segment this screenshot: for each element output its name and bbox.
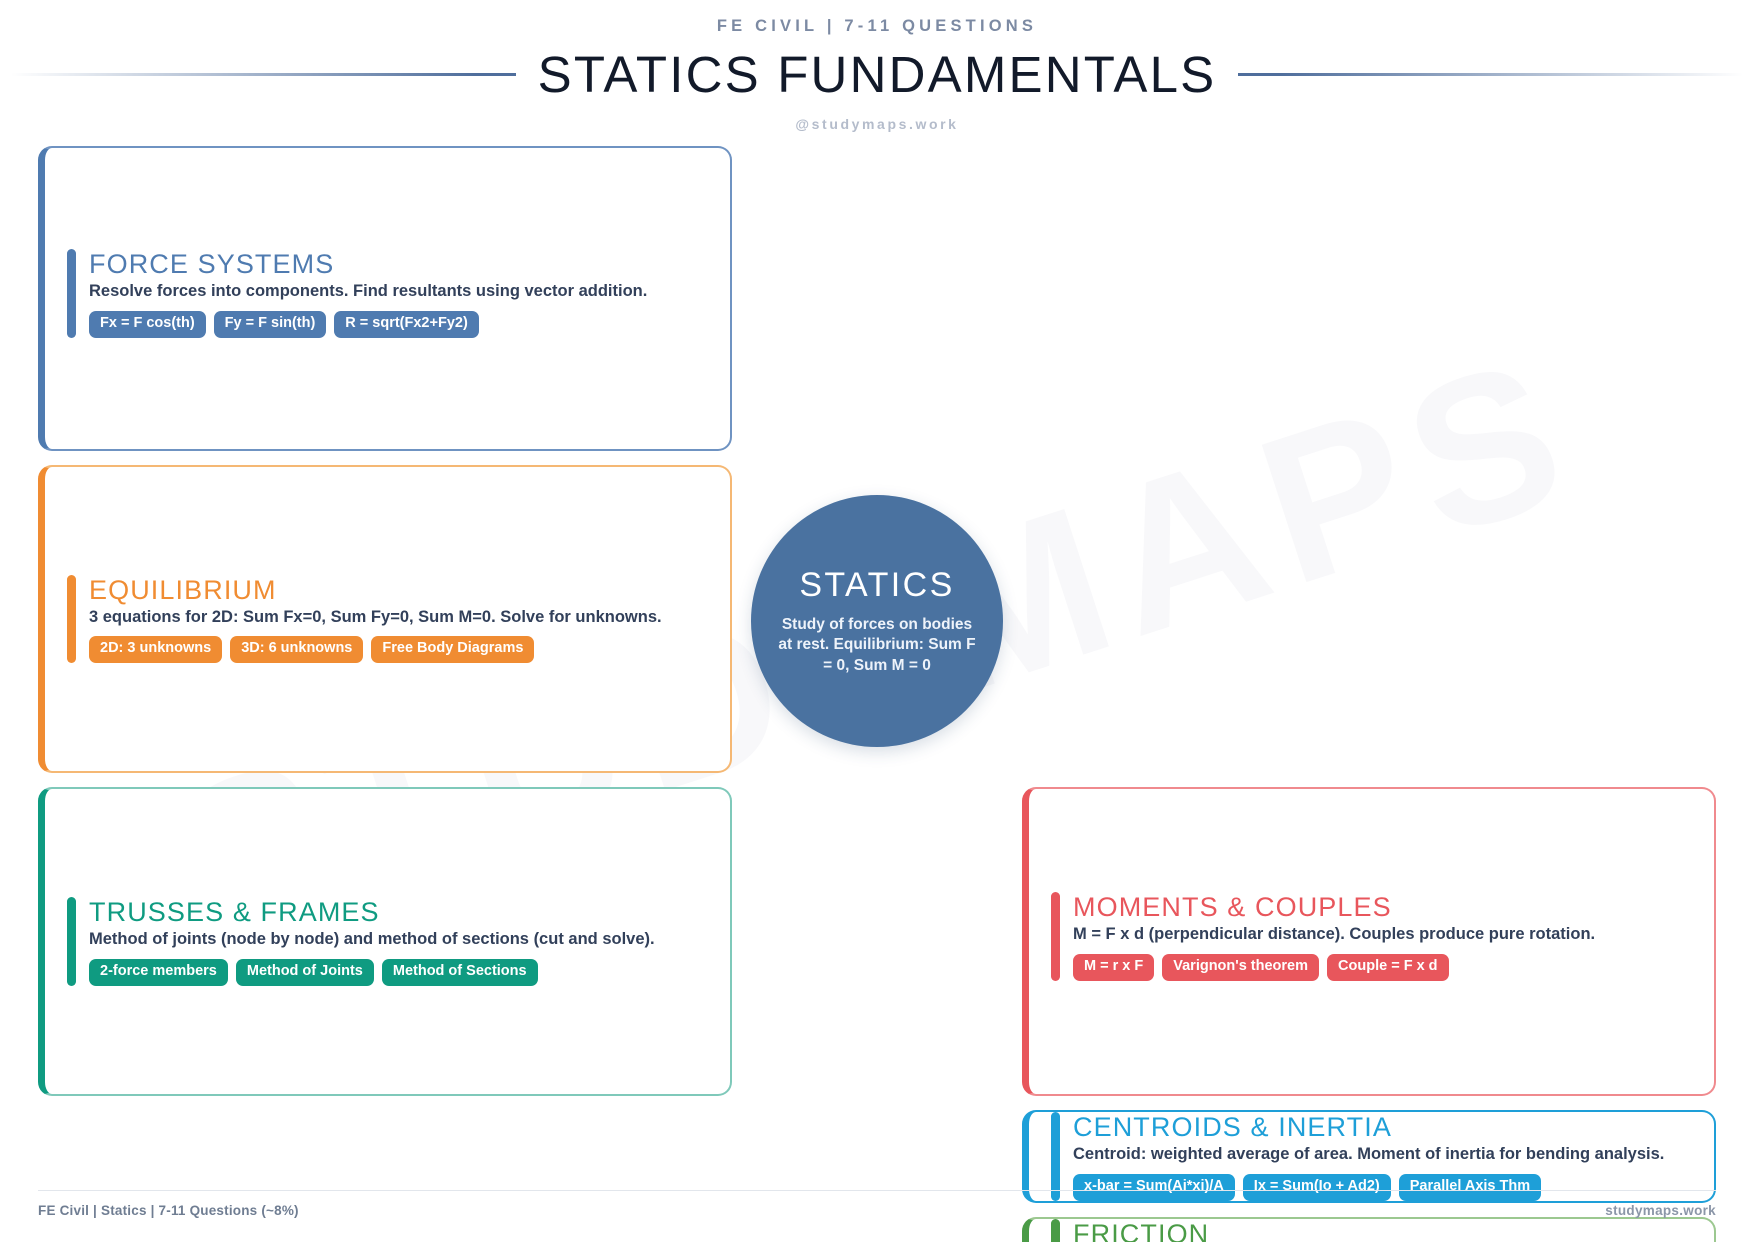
card-description: Method of joints (node by node) and meth… <box>89 929 708 950</box>
card-moments-couples[interactable]: MOMENTS & COUPLES M = F x d (perpendicul… <box>1022 787 1716 1096</box>
card-accent-bar <box>1051 1219 1060 1242</box>
title-row: STATICS FUNDAMENTALS <box>0 45 1754 104</box>
card-title: CENTROIDS & INERTIA <box>1073 1112 1692 1142</box>
title-rule-left <box>11 73 516 76</box>
title-rule-right <box>1238 73 1743 76</box>
card-pill[interactable]: Method of Sections <box>382 959 538 986</box>
card-pill[interactable]: Method of Joints <box>236 959 374 986</box>
footer-left-text: FE Civil | Statics | 7-11 Questions (~8%… <box>38 1203 299 1218</box>
hub-subtitle: Study of forces on bodies at rest. Equil… <box>775 615 979 676</box>
header-eyebrow: FE CIVIL | 7-11 QUESTIONS <box>0 17 1754 36</box>
card-friction[interactable]: FRICTION Static friction: Fs <= mu_s * N… <box>1022 1217 1716 1242</box>
footer-right-text: studymaps.work <box>1605 1203 1716 1218</box>
card-description: 3 equations for 2D: Sum Fx=0, Sum Fy=0, … <box>89 607 708 628</box>
card-title: MOMENTS & COUPLES <box>1073 892 1692 922</box>
card-pill[interactable]: 2D: 3 unknowns <box>89 636 222 663</box>
card-centroids-inertia[interactable]: CENTROIDS & INERTIA Centroid: weighted a… <box>1022 1110 1716 1203</box>
card-pill[interactable]: Fy = F sin(th) <box>214 311 327 338</box>
card-equilibrium[interactable]: EQUILIBRIUM 3 equations for 2D: Sum Fx=0… <box>38 465 732 773</box>
hub-cell: STATICS Study of forces on bodies at res… <box>732 146 1022 1096</box>
card-force-systems[interactable]: FORCE SYSTEMS Resolve forces into compon… <box>38 146 732 451</box>
card-pill[interactable]: R = sqrt(Fx2+Fy2) <box>334 311 479 338</box>
card-pill[interactable]: 3D: 6 unknowns <box>230 636 363 663</box>
center-hub: STATICS Study of forces on bodies at res… <box>751 495 1003 747</box>
card-title: FORCE SYSTEMS <box>89 249 708 279</box>
card-title: FRICTION <box>1073 1219 1692 1242</box>
card-description: Centroid: weighted average of area. Mome… <box>1073 1144 1692 1165</box>
page-title: STATICS FUNDAMENTALS <box>538 45 1217 104</box>
card-pill[interactable]: Free Body Diagrams <box>371 636 534 663</box>
card-trusses-frames[interactable]: TRUSSES & FRAMES Method of joints (node … <box>38 787 732 1096</box>
page-footer: FE Civil | Statics | 7-11 Questions (~8%… <box>38 1190 1716 1218</box>
brand-handle: @studymaps.work <box>0 116 1754 132</box>
page-header: FE CIVIL | 7-11 QUESTIONS STATICS FUNDAM… <box>0 0 1754 132</box>
card-pill-list: 2D: 3 unknowns 3D: 6 unknowns Free Body … <box>89 636 708 663</box>
card-pill[interactable]: Fx = F cos(th) <box>89 311 206 338</box>
card-accent-bar <box>67 897 76 986</box>
card-pill-list: 2-force members Method of Joints Method … <box>89 959 708 986</box>
card-title: TRUSSES & FRAMES <box>89 897 708 927</box>
card-accent-bar <box>67 575 76 664</box>
card-pill-list: M = r x F Varignon's theorem Couple = F … <box>1073 954 1692 981</box>
card-accent-bar <box>67 249 76 338</box>
card-pill[interactable]: Varignon's theorem <box>1162 954 1319 981</box>
card-pill[interactable]: M = r x F <box>1073 954 1154 981</box>
card-pill-list: Fx = F cos(th) Fy = F sin(th) R = sqrt(F… <box>89 311 708 338</box>
card-accent-bar <box>1051 892 1060 981</box>
hub-title: STATICS <box>799 566 954 605</box>
card-description: Resolve forces into components. Find res… <box>89 281 708 302</box>
card-title: EQUILIBRIUM <box>89 575 708 605</box>
card-pill[interactable]: 2-force members <box>89 959 228 986</box>
cards-grid: FORCE SYSTEMS Resolve forces into compon… <box>38 146 1716 1242</box>
card-accent-bar <box>1051 1112 1060 1201</box>
infographic-page: STUDYMAPS FE CIVIL | 7-11 QUESTIONS STAT… <box>0 0 1754 1242</box>
card-pill[interactable]: Couple = F x d <box>1327 954 1449 981</box>
card-description: M = F x d (perpendicular distance). Coup… <box>1073 924 1692 945</box>
